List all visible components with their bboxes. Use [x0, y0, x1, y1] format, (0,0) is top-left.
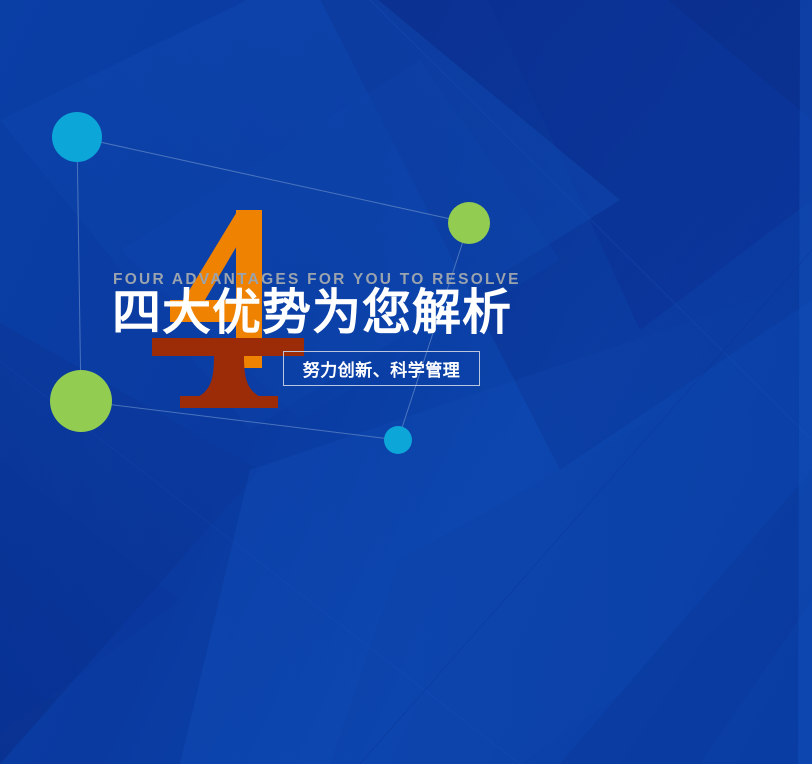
subtitle-box-label: 努力创新、科学管理	[303, 356, 461, 381]
page-title: 四大优势为您解析	[112, 288, 512, 339]
subtitle-box: 努力创新、科学管理	[283, 351, 480, 386]
numeral-four-pedestal	[152, 338, 304, 408]
banner-content: FOUR ADVANTAGES FOR YOU TO RESOLVE 四大优势为…	[0, 0, 812, 764]
promo-banner: FOUR ADVANTAGES FOR YOU TO RESOLVE 四大优势为…	[0, 0, 812, 764]
